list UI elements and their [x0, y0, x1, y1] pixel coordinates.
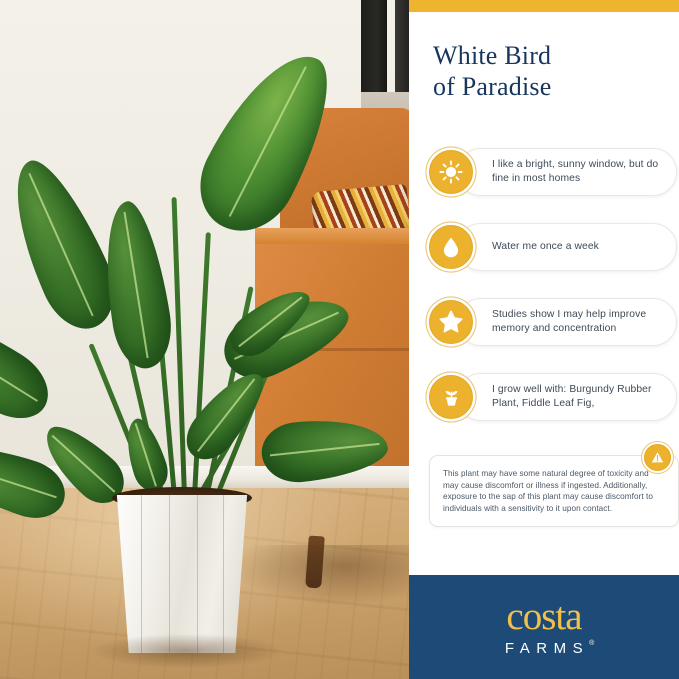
care-card-light-pill: I like a bright, sunny window, but do fi…	[457, 148, 677, 196]
care-cards-list: I like a bright, sunny window, but do fi…	[429, 148, 679, 448]
potted-plant-icon	[429, 375, 473, 419]
brand-farms-text: FARMS	[505, 640, 589, 657]
warning-triangle-icon	[644, 444, 671, 471]
white-planter-pot	[108, 495, 256, 653]
care-card-water-pill: Water me once a week	[457, 223, 677, 271]
care-card-benefit: Studies show I may help improve memory a…	[429, 298, 679, 358]
page-title: White Bird of Paradise	[433, 40, 673, 102]
brand-footer: costa FARMS®	[409, 575, 679, 679]
care-card-light-text: I like a bright, sunny window, but do fi…	[492, 158, 662, 187]
pot-shadow	[92, 634, 282, 668]
water-drop-icon	[429, 225, 473, 269]
care-card-water: Water me once a week	[429, 223, 679, 283]
care-card-companions-pill: I grow well with: Burgundy Rubber Plant,…	[457, 373, 677, 421]
star-icon	[429, 300, 473, 344]
brand-name-farms: FARMS®	[499, 640, 589, 657]
product-photo	[0, 0, 409, 679]
care-card-companions: I grow well with: Burgundy Rubber Plant,…	[429, 373, 679, 433]
registered-trademark-icon: ®	[589, 640, 594, 647]
title-line-2: of Paradise	[433, 71, 673, 102]
toxicity-disclaimer: This plant may have some natural degree …	[429, 455, 679, 527]
toxicity-disclaimer-box: This plant may have some natural degree …	[429, 455, 679, 527]
care-card-benefit-pill: Studies show I may help improve memory a…	[457, 298, 677, 346]
care-card-benefit-text: Studies show I may help improve memory a…	[492, 308, 662, 337]
info-panel: White Bird of Paradise	[409, 0, 679, 679]
brand-name-costa: costa	[506, 597, 581, 636]
care-card-light: I like a bright, sunny window, but do fi…	[429, 148, 679, 208]
sun-icon	[429, 150, 473, 194]
care-card-companions-text: I grow well with: Burgundy Rubber Plant,…	[492, 383, 662, 412]
care-card-water-text: Water me once a week	[492, 240, 599, 255]
product-info-card: White Bird of Paradise	[0, 0, 679, 679]
gold-top-bar	[409, 0, 679, 12]
toxicity-disclaimer-text: This plant may have some natural degree …	[443, 468, 665, 514]
bird-of-paradise-plant	[0, 0, 409, 679]
title-line-1: White Bird	[433, 40, 673, 71]
